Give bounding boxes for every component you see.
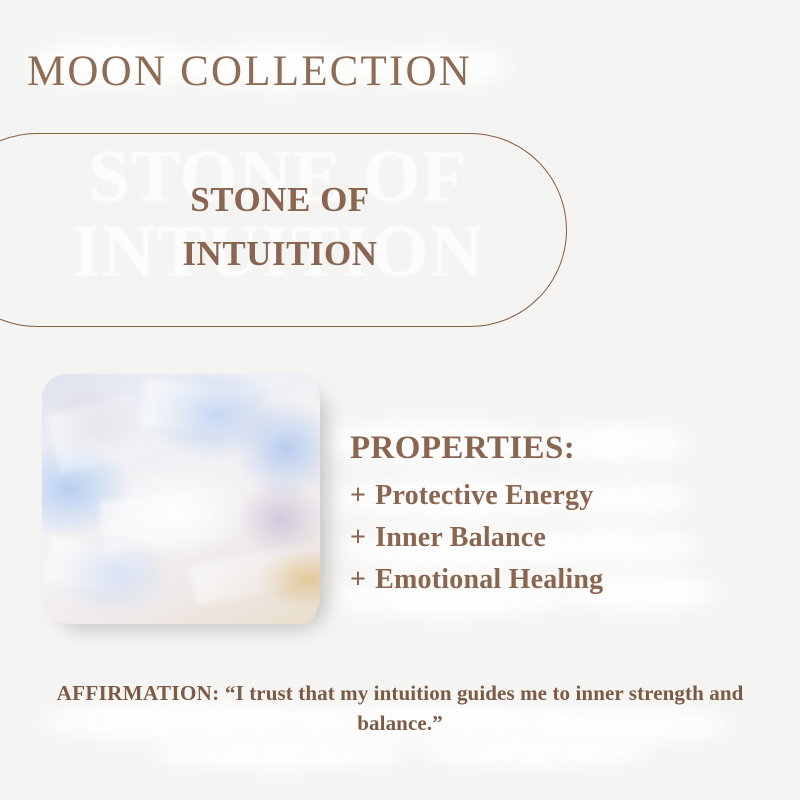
stone-facet bbox=[140, 378, 254, 437]
property-item: + Protective Energy bbox=[350, 480, 770, 512]
plus-icon: + bbox=[350, 564, 366, 596]
property-item: + Emotional Healing bbox=[350, 564, 770, 596]
banner-headline: STONE OF INTUITION bbox=[0, 173, 560, 282]
background-blob bbox=[150, 736, 410, 770]
stone-facet bbox=[46, 394, 148, 474]
affirmation-label: AFFIRMATION: bbox=[57, 681, 220, 705]
affirmation-quote: “I trust that my intuition guides me to … bbox=[220, 681, 744, 735]
stone-body bbox=[42, 374, 320, 624]
crystal-info-card: STONE OF INTUITION MOON COLLECTION STONE… bbox=[0, 0, 800, 800]
properties-section: PROPERTIES: + Protective Energy + Inner … bbox=[350, 430, 770, 606]
property-label: Protective Energy bbox=[375, 480, 593, 512]
property-item: + Inner Balance bbox=[350, 522, 770, 554]
background-blob bbox=[420, 734, 650, 768]
properties-heading: PROPERTIES: bbox=[350, 430, 770, 467]
page-title: MOON COLLECTION bbox=[27, 47, 472, 96]
property-label: Emotional Healing bbox=[375, 564, 603, 596]
moonstone-image bbox=[42, 374, 332, 630]
plus-icon: + bbox=[350, 480, 366, 512]
plus-icon: + bbox=[350, 522, 366, 554]
stone-facet bbox=[100, 487, 245, 553]
stone-facet bbox=[189, 542, 315, 606]
property-label: Inner Balance bbox=[375, 522, 546, 554]
affirmation-block: AFFIRMATION: “I trust that my intuition … bbox=[30, 678, 770, 739]
